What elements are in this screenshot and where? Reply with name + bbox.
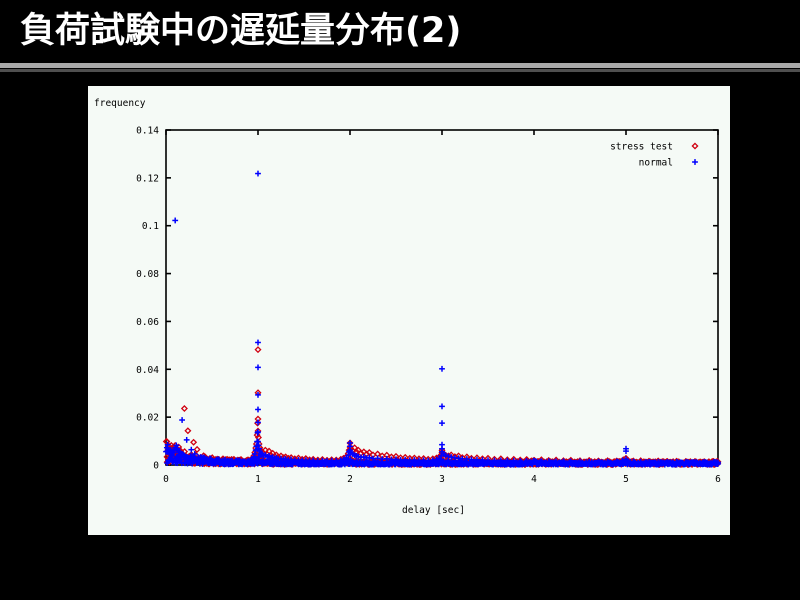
marker-plus [255,407,261,413]
plot-border [166,130,718,465]
marker-plus [188,447,194,453]
marker-plus [255,340,261,346]
page-title: 負荷試験中の遅延量分布(2) [20,9,461,53]
marker-diamond [182,406,187,411]
title-divider-dark [0,69,800,72]
marker-plus [172,218,178,224]
axes-group [166,130,718,465]
marker-plus [255,364,261,370]
title-divider-light [0,63,800,68]
title-bar: 負荷試験中の遅延量分布(2) [0,0,800,62]
marker-plus [184,437,190,443]
marker-diamond [185,428,190,433]
marker-plus [179,417,185,423]
marker-plus [439,420,445,426]
marker-diamond [255,347,260,352]
marker-plus [439,403,445,409]
marker-plus [439,366,445,372]
delay-distribution-scatter-plot: 00.020.040.060.080.10.120.140123456frequ… [88,86,730,535]
series-normal [163,171,721,468]
marker-plus [255,171,261,177]
marker-diamond [191,440,196,445]
chart-panel: 00.020.040.060.080.10.120.140123456frequ… [88,86,730,535]
slide-root: 負荷試験中の遅延量分布(2) 00.020.040.060.080.10.120… [0,0,800,600]
data-points-group [163,171,721,468]
